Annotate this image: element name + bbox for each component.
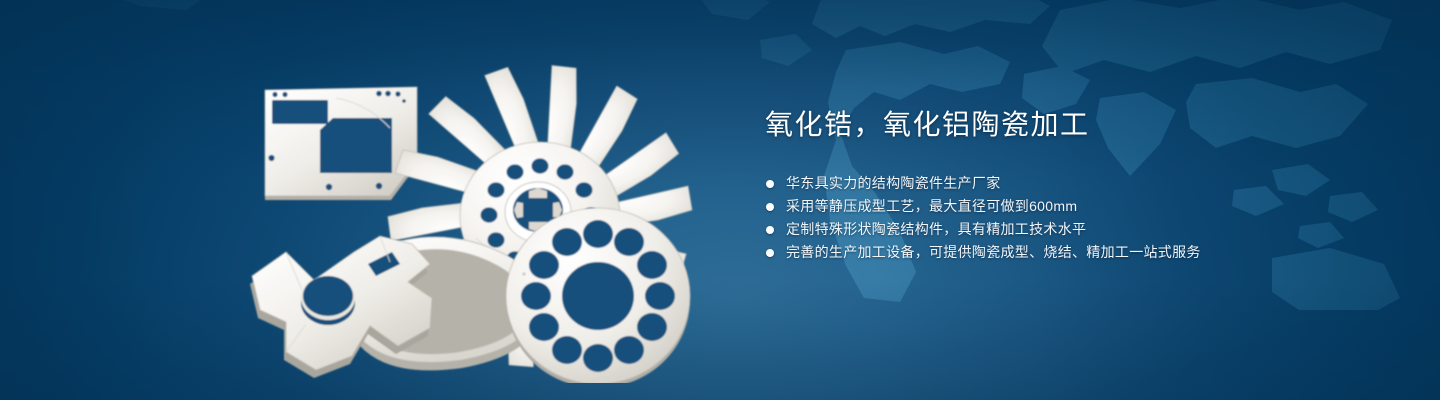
ceramic-processing-banner: 氧化锆，氧化铝陶瓷加工 华东具实力的结构陶瓷件生产厂家 采用等静压成型工艺，最大… <box>0 0 1440 400</box>
list-item-label: 完善的生产加工设备，可提供陶瓷成型、烧结、精加工一站式服务 <box>786 244 1201 260</box>
list-item: 采用等静压成型工艺，最大直径可做到600mm <box>765 195 1325 218</box>
ceramic-perforated-disc <box>506 208 690 383</box>
banner-text-column: 氧化锆，氧化铝陶瓷加工 华东具实力的结构陶瓷件生产厂家 采用等静压成型工艺，最大… <box>765 108 1325 264</box>
feature-list: 华东具实力的结构陶瓷件生产厂家 采用等静压成型工艺，最大直径可做到600mm 定… <box>765 172 1325 264</box>
list-item: 华东具实力的结构陶瓷件生产厂家 <box>765 172 1325 195</box>
ceramic-products-image <box>240 38 710 383</box>
list-item: 完善的生产加工设备，可提供陶瓷成型、烧结、精加工一站式服务 <box>765 241 1325 264</box>
bullet-dot-icon <box>766 249 774 257</box>
list-item-label: 华东具实力的结构陶瓷件生产厂家 <box>786 175 1001 191</box>
list-item: 定制特殊形状陶瓷结构件，具有精加工技术水平 <box>765 218 1325 241</box>
page-title: 氧化锆，氧化铝陶瓷加工 <box>765 108 1325 142</box>
bullet-dot-icon <box>766 226 774 234</box>
ceramic-machined-plate <box>265 86 423 200</box>
ceramic-products-illustration <box>240 38 710 383</box>
list-item-label: 采用等静压成型工艺，最大直径可做到600mm <box>786 198 1077 214</box>
bullet-dot-icon <box>766 203 774 211</box>
list-item-label: 定制特殊形状陶瓷结构件，具有精加工技术水平 <box>786 221 1086 237</box>
bullet-dot-icon <box>766 180 774 188</box>
